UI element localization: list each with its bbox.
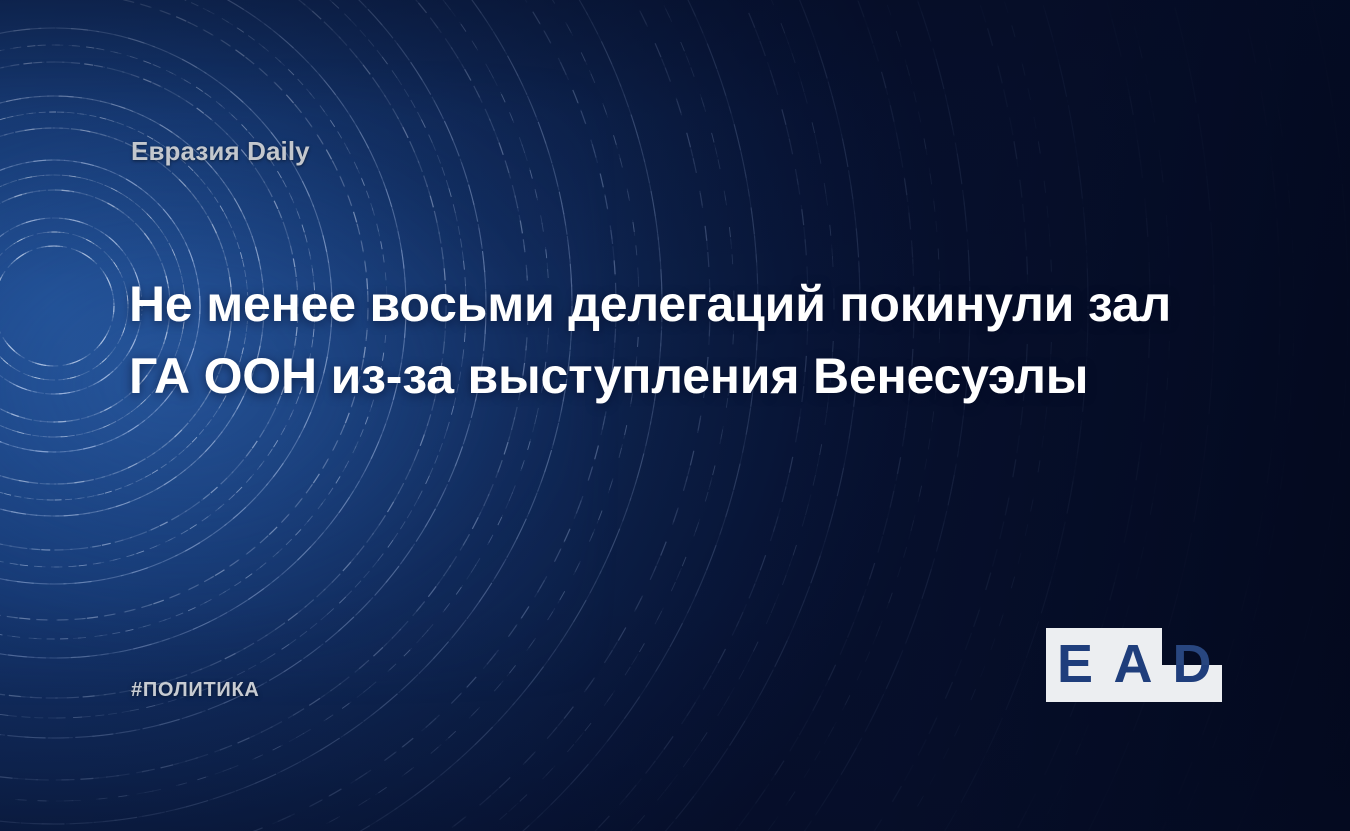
logo-tile-d-upper: D [1162, 628, 1222, 665]
logo-tile-d-split: D D [1162, 628, 1222, 702]
logo-letter-e: E [1046, 628, 1104, 702]
news-share-card: Евразия Daily Не менее восьми делегаций … [0, 0, 1350, 831]
logo-tile-a: A [1104, 628, 1162, 702]
logo-letter-d-upper: D [1162, 628, 1222, 665]
brand-name: Евразия Daily [131, 136, 310, 167]
headline: Не менее восьми делегаций покинули зал Г… [129, 268, 1189, 412]
category-hashtag: #ПОЛИТИКА [131, 679, 260, 702]
logo-tile-e: E [1046, 628, 1104, 702]
logo-letter-d-lower: D [1162, 665, 1222, 702]
logo-letter-a: A [1104, 628, 1162, 702]
card-content: Евразия Daily Не менее восьми делегаций … [0, 0, 1350, 831]
eadaily-logo: E A D D [1046, 628, 1222, 702]
logo-tile-d-lower: D [1162, 665, 1222, 702]
